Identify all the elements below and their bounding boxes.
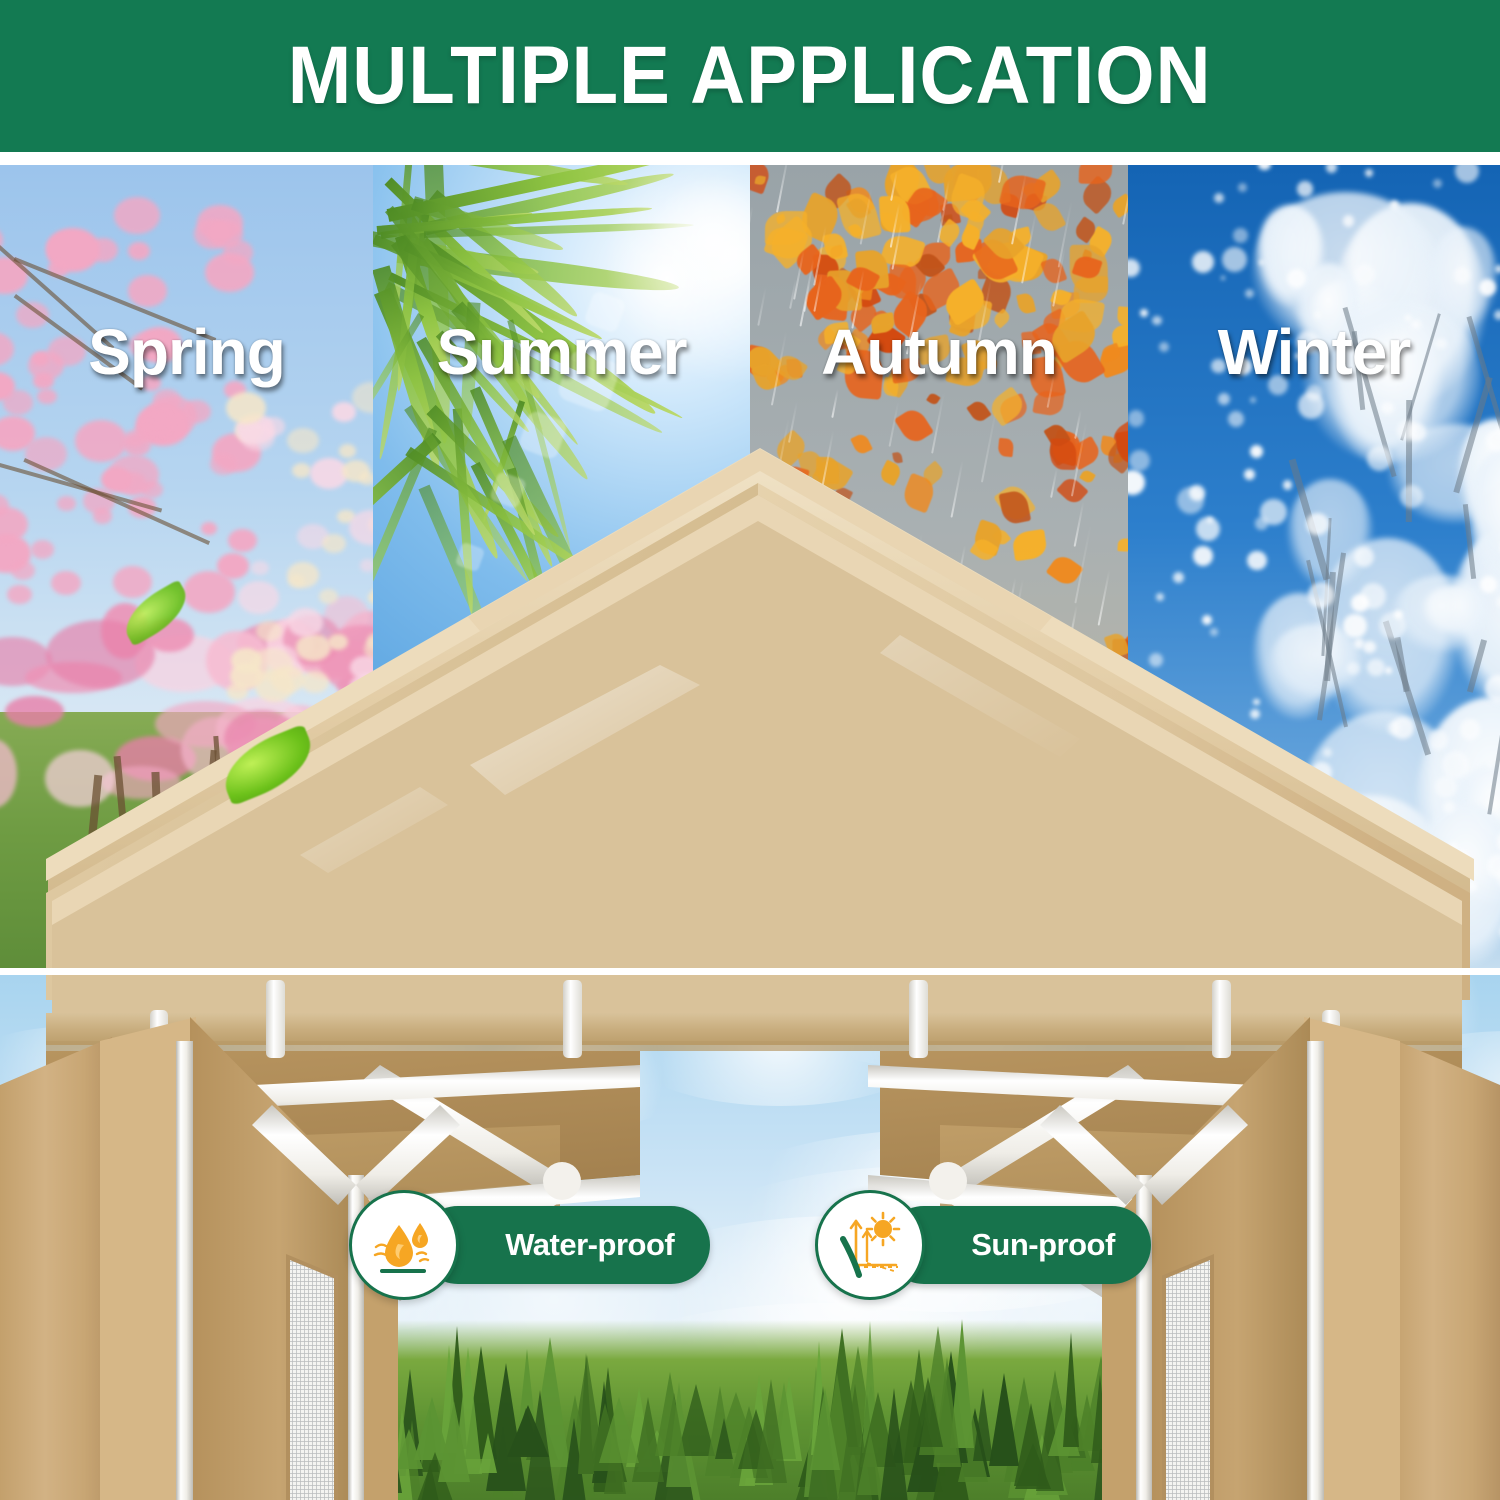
banner-gap xyxy=(0,152,1500,165)
blossom-petal xyxy=(251,648,293,681)
season-label-autumn: Autumn xyxy=(750,315,1128,389)
snowflake xyxy=(1210,628,1217,635)
pine-tree xyxy=(479,1433,497,1473)
blossom-petal xyxy=(114,197,160,234)
snowflake xyxy=(1379,612,1406,639)
maple-leaf xyxy=(1118,538,1128,551)
snowflake xyxy=(1214,193,1224,203)
season-panel-spring: Spring xyxy=(0,165,373,972)
snowflake xyxy=(1452,850,1467,865)
snowflake xyxy=(1226,748,1251,773)
pine-tree xyxy=(880,1388,908,1500)
blossom-petal xyxy=(262,417,285,435)
snowflake xyxy=(1347,662,1360,675)
badge-water-proof[interactable]: Water-proof xyxy=(349,1195,710,1295)
snowflake xyxy=(1177,487,1204,514)
blossom-petal xyxy=(296,634,331,662)
blossom-petal xyxy=(332,402,356,421)
snowflake xyxy=(1228,411,1244,427)
snowflake xyxy=(1454,267,1470,283)
cloud xyxy=(210,1111,526,1202)
header-banner: MULTIPLE APPLICATION xyxy=(0,0,1500,152)
pine-tree xyxy=(755,1379,787,1483)
pine-tree xyxy=(810,1388,840,1470)
snowflake xyxy=(1297,181,1312,196)
pine-tree xyxy=(1278,1379,1320,1500)
snowflake xyxy=(1162,898,1173,909)
pine-tree xyxy=(361,1369,397,1458)
blossom-petal xyxy=(288,574,306,588)
blossom-petal xyxy=(128,275,168,307)
snowflake xyxy=(1442,751,1470,779)
pine-tree xyxy=(153,1464,175,1500)
blossom-petal xyxy=(11,561,35,580)
snowflake xyxy=(1129,789,1139,799)
blossom-petal xyxy=(205,253,254,292)
blossom-petal xyxy=(57,496,75,511)
season-label-spring: Spring xyxy=(0,315,373,389)
blossom-cluster xyxy=(5,696,64,727)
season-label-winter: Winter xyxy=(1128,315,1500,389)
pine-tree xyxy=(270,1347,306,1465)
snowflake xyxy=(1311,762,1332,783)
badge-pill-water-proof[interactable]: Water-proof xyxy=(419,1206,710,1284)
snowflake xyxy=(1300,771,1310,781)
pine-tree xyxy=(1457,1384,1487,1466)
blossom-petal xyxy=(208,220,243,248)
snowflake xyxy=(1349,809,1354,814)
badge-label-water-proof: Water-proof xyxy=(505,1227,674,1263)
blossom-cluster xyxy=(45,750,114,807)
blossom-petal xyxy=(301,671,329,693)
snowflake xyxy=(1460,719,1480,739)
blossom-petal xyxy=(75,420,127,462)
blossom-petal xyxy=(113,566,152,597)
pine-tree xyxy=(27,1351,47,1458)
blossom-petal xyxy=(31,540,54,558)
snowflake xyxy=(1250,397,1256,403)
snowflake xyxy=(1205,798,1213,806)
season-panel-summer: Summer xyxy=(373,165,750,972)
snowflake xyxy=(1207,517,1213,523)
sun-ray-icon xyxy=(815,1190,925,1300)
pine-tree xyxy=(149,1348,169,1466)
blossom-petal xyxy=(342,460,370,482)
snowflake xyxy=(1238,183,1247,192)
product-marketing-image: MULTIPLE APPLICATION Spring Summer Autum… xyxy=(0,0,1500,1500)
maple-leaf xyxy=(951,597,973,616)
pine-tree xyxy=(1333,1417,1357,1482)
pine-tree xyxy=(79,1460,107,1500)
snowflake xyxy=(1253,699,1260,706)
badge-sun-proof[interactable]: Sun-proof xyxy=(815,1195,1151,1295)
snowflake xyxy=(1245,289,1254,298)
snowflake xyxy=(1343,614,1366,637)
snowflake xyxy=(1306,513,1328,535)
snowflake xyxy=(1128,410,1144,427)
snowflake xyxy=(1486,429,1500,452)
horizontal-divider xyxy=(0,968,1500,975)
blossom-petal xyxy=(256,621,281,641)
blossom-petal xyxy=(140,409,173,436)
blossom-petal xyxy=(227,683,248,700)
blossom-petal xyxy=(288,608,324,637)
pine-tree xyxy=(190,1321,228,1452)
blossom-petal xyxy=(7,585,31,605)
snowflake xyxy=(1367,446,1392,471)
seasons-strip: Spring Summer Autumn Winter xyxy=(0,165,1500,972)
snowflake xyxy=(1428,730,1448,750)
pine-tree xyxy=(913,1377,943,1447)
snowflake xyxy=(1381,402,1394,415)
pine-tree xyxy=(715,1418,733,1459)
snowflake xyxy=(1354,547,1374,567)
snowflake xyxy=(1218,393,1230,405)
snowflake xyxy=(1363,641,1376,654)
snowflake xyxy=(1363,905,1386,928)
snowflake xyxy=(1247,551,1266,570)
maple-leaf xyxy=(1050,438,1077,469)
blossom-petal xyxy=(51,571,81,595)
blossom-petal xyxy=(319,589,338,604)
cloud xyxy=(1196,1125,1461,1195)
autumn-ground xyxy=(750,852,1128,972)
snowflake xyxy=(1385,667,1392,674)
pine-tree xyxy=(1377,1423,1405,1500)
frosted-tree xyxy=(1392,575,1492,652)
blossom-petal xyxy=(287,428,319,454)
pine-tree xyxy=(1148,1346,1186,1467)
pine-tree xyxy=(438,1401,470,1482)
page-title: MULTIPLE APPLICATION xyxy=(288,35,1212,117)
summer-sand xyxy=(373,920,750,972)
pine-tree xyxy=(599,1397,639,1463)
snowflake xyxy=(1495,265,1500,273)
season-label-summer: Summer xyxy=(373,315,750,389)
blossom-petal xyxy=(251,561,269,575)
badge-label-sun-proof: Sun-proof xyxy=(971,1227,1115,1263)
water-drop-icon xyxy=(349,1190,459,1300)
pine-tree xyxy=(60,1397,84,1461)
snowflake xyxy=(1479,279,1496,296)
blossom-petal xyxy=(360,559,373,571)
pine-tree xyxy=(1063,1332,1079,1447)
pine-tree xyxy=(1216,1411,1250,1490)
pine-tree xyxy=(395,1429,423,1469)
blossom-petal xyxy=(210,453,237,474)
pine-tree xyxy=(655,1372,685,1456)
snowflake xyxy=(1422,897,1450,925)
snowflake xyxy=(1192,251,1214,273)
blossom-petal xyxy=(238,581,280,614)
blossom-petal xyxy=(292,463,311,478)
feature-badges: Water-proof xyxy=(0,1195,1500,1325)
blossom-petal xyxy=(93,508,112,524)
blossom-petal xyxy=(128,242,151,260)
snowflake xyxy=(1343,215,1354,226)
pine-tree xyxy=(0,1350,17,1451)
blossom-petal xyxy=(183,571,235,612)
pine-tree xyxy=(578,1353,594,1474)
blossom-petal xyxy=(322,534,346,553)
pine-tree xyxy=(227,1445,243,1497)
season-panel-winter: Winter xyxy=(1128,165,1500,972)
pine-tree xyxy=(1102,1419,1136,1468)
snowflake xyxy=(1233,228,1248,243)
season-panel-autumn: Autumn xyxy=(750,165,1128,972)
snowflake xyxy=(1259,260,1263,264)
snowflake xyxy=(1283,480,1293,490)
pine-tree xyxy=(511,1408,541,1455)
badge-pill-sun-proof[interactable]: Sun-proof xyxy=(885,1206,1151,1284)
pine-tree xyxy=(973,1388,993,1461)
blossom-petal xyxy=(228,529,257,552)
snowflake xyxy=(1255,517,1267,529)
